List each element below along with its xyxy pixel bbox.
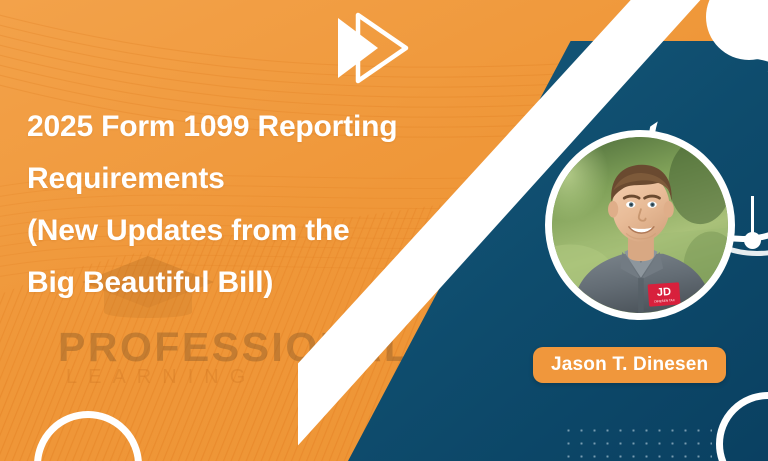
speaker-photo: JD DINESEN TAX [552,137,728,313]
speaker-name-text: Jason T. Dinesen [551,354,708,376]
dot-grid-pattern [562,424,712,461]
speaker-name-badge: Jason T. Dinesen [533,347,726,383]
play-button[interactable] [332,12,414,84]
speaker-avatar: JD DINESEN TAX [545,130,735,320]
title-line-4: Big Beautiful Bill) [27,257,527,309]
page-title: 2025 Form 1099 Reporting Requirements (N… [27,101,527,309]
svg-text:JD: JD [656,286,671,299]
title-line-1: 2025 Form 1099 Reporting [27,101,527,153]
connector-node-dot-right [744,232,761,249]
title-line-2: Requirements [27,153,527,205]
title-line-3: (New Updates from the [27,205,527,257]
webinar-promo-banner: PROFESSIONALS LEARNING 2025 Form 1099 Re… [0,0,768,461]
connector-line-right [751,196,754,236]
